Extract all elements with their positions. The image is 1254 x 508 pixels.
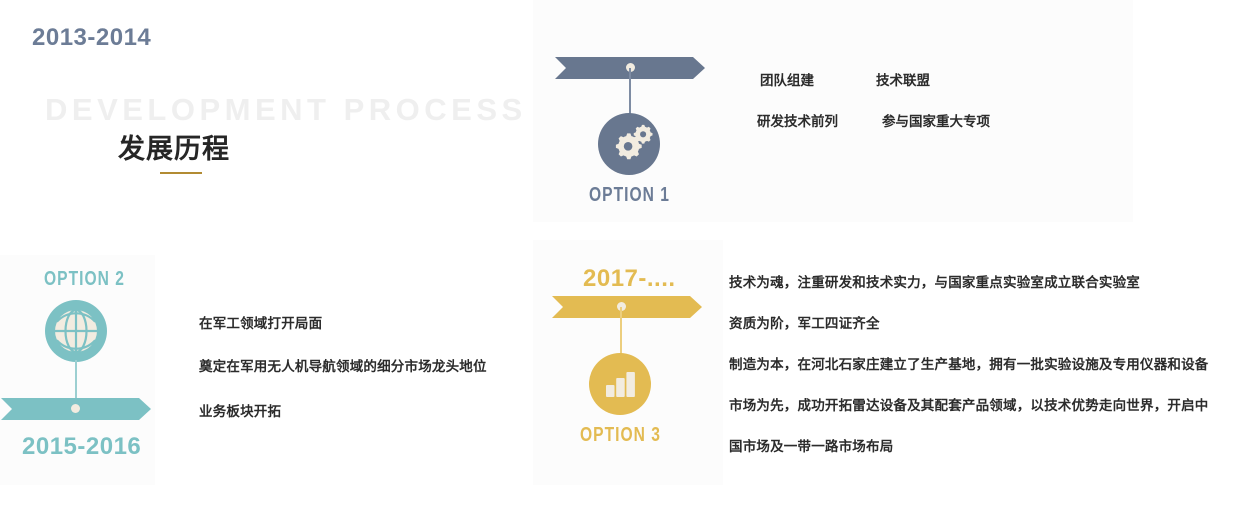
connector-stem-option-1 [629, 68, 631, 116]
tag-team-building: 团队组建 [760, 69, 814, 89]
option-label-2: OPTION 2 [44, 268, 125, 291]
option-3-line-1: 技术为魂，注重研发和技术实力，与国家重点实验室成立联合实验室 [729, 271, 1140, 291]
page-header: DEVELOPMENT PROCESS 发展历程 [0, 80, 520, 190]
bar-chart-icon [589, 353, 651, 415]
option-3-line-4: 市场为先，成功开拓雷达设备及其配套产品领域，以技术优势走向世界，开启中 [729, 394, 1209, 414]
page-title: 发展历程 [118, 127, 230, 166]
option-label-3: OPTION 3 [580, 424, 661, 447]
tag-rd-leadership: 研发技术前列 [757, 110, 838, 130]
year-label-option-3: 2017-.... [583, 265, 676, 293]
connector-stem-option-3 [620, 307, 622, 355]
gears-icon [598, 113, 660, 175]
globe-icon [45, 300, 107, 362]
year-label-option-1: 2013-2014 [32, 24, 151, 52]
option-2-line-2: 奠定在军用无人机导航领域的细分市场龙头地位 [199, 355, 487, 375]
option-3-line-5: 国市场及一带一路市场布局 [729, 435, 893, 455]
option-label-1: OPTION 1 [589, 184, 670, 207]
option-3-line-3: 制造为本，在河北石家庄建立了生产基地，拥有一批实验设施及专用仪器和设备 [729, 353, 1209, 373]
tag-national-major-project: 参与国家重大专项 [882, 110, 990, 130]
option-2-line-1: 在军工领域打开局面 [199, 312, 322, 332]
banner-option-3 [552, 296, 702, 318]
option-2-line-3: 业务板块开拓 [199, 400, 281, 420]
title-underline [160, 172, 202, 174]
option-3-line-2: 资质为阶，军工四证齐全 [729, 312, 880, 332]
header-ghost-title: DEVELOPMENT PROCESS [45, 92, 527, 128]
banner-dot-option-2 [71, 404, 80, 413]
tag-tech-alliance: 技术联盟 [876, 69, 930, 89]
year-label-option-2: 2015-2016 [22, 433, 141, 461]
